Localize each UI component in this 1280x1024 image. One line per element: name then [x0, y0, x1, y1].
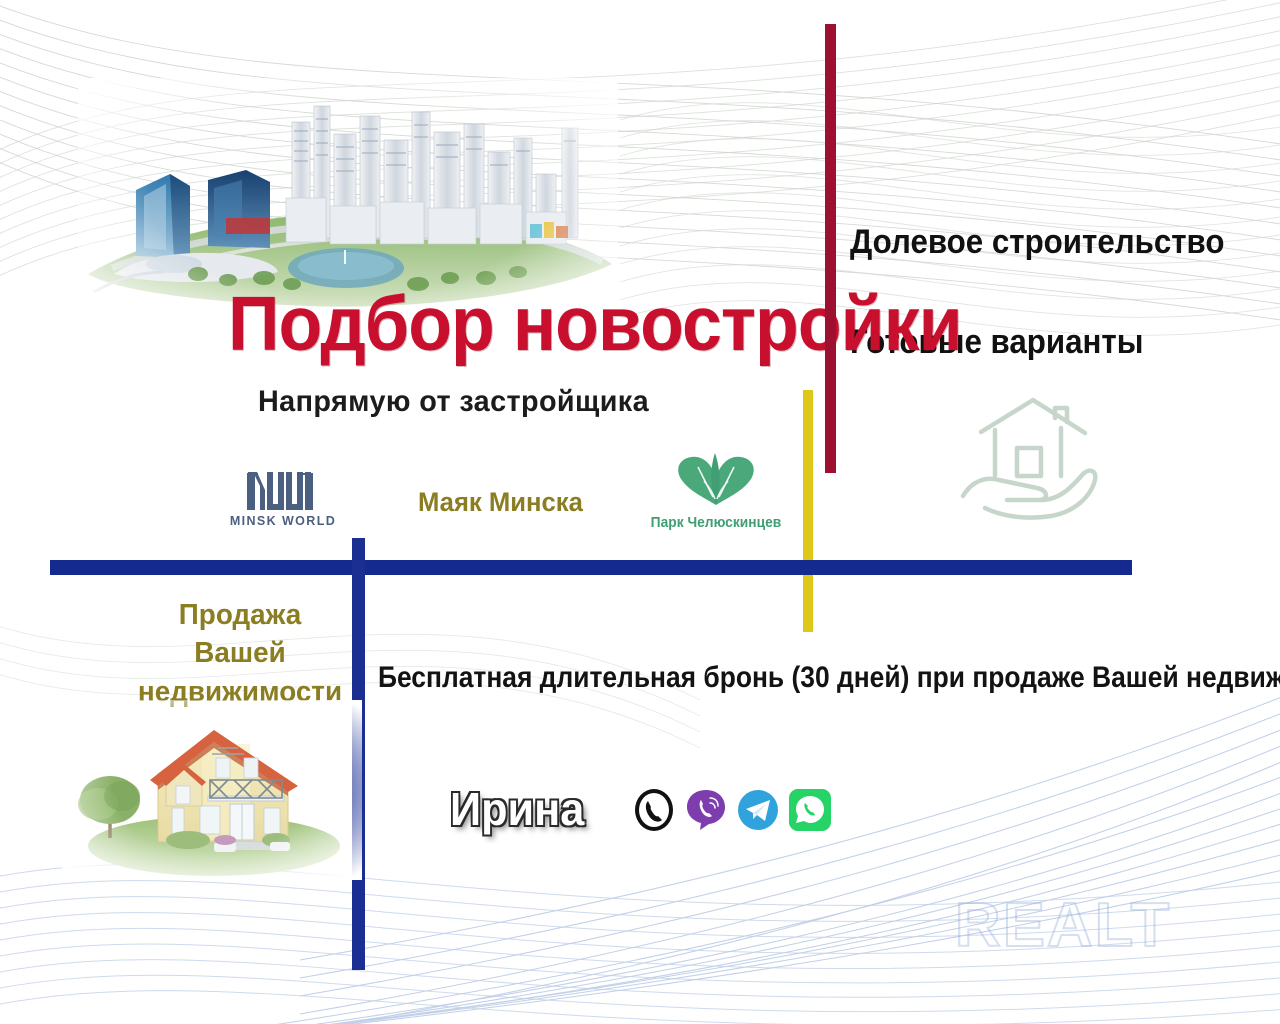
mw-monogram-icon: [224, 466, 342, 512]
offer-text: Бесплатная длительная бронь (30 дней) пр…: [378, 661, 1280, 695]
cottage-house-image: [62, 700, 362, 880]
realt-watermark: REALT: [955, 890, 1171, 961]
whatsapp-icon[interactable]: [788, 788, 832, 832]
divider-vertical-red: [825, 24, 836, 473]
sell-property-heading: Продажа Вашей недвижимости: [134, 596, 345, 711]
phone-icon[interactable]: [632, 788, 676, 832]
partner-wordmark-minsk-world: MINSK WORLD: [224, 514, 342, 528]
telegram-icon[interactable]: [736, 788, 780, 832]
leaf-icon: [641, 451, 791, 513]
contact-icons: [632, 788, 832, 832]
advertisement-poster: Долевое строительство Готовые варианты П…: [0, 0, 1280, 1024]
house-in-hand-icon: [955, 392, 1115, 527]
partner-logo-park-chelyuskintsev: Парк Челюскинцев: [641, 451, 791, 532]
viber-icon[interactable]: [684, 788, 728, 832]
claim-shared-construction: Долевое строительство: [850, 223, 1224, 262]
divider-vertical-yellow: [803, 390, 813, 632]
partner-wordmark-park-chelyuskintsev: Парк Челюскинцев: [651, 514, 782, 531]
page-title: Подбор новостройки: [228, 286, 962, 363]
page-subtitle: Напрямую от застройщика: [258, 385, 649, 419]
agent-name: Ирина: [450, 782, 584, 836]
partner-logo-minsk-world: MINSK WORLD: [224, 466, 342, 536]
sell-property-line1: Продажа Вашей: [134, 596, 345, 673]
divider-horizontal-blue: [50, 560, 1132, 575]
partner-logo-mayak-minska: Маяк Минска: [418, 487, 583, 518]
